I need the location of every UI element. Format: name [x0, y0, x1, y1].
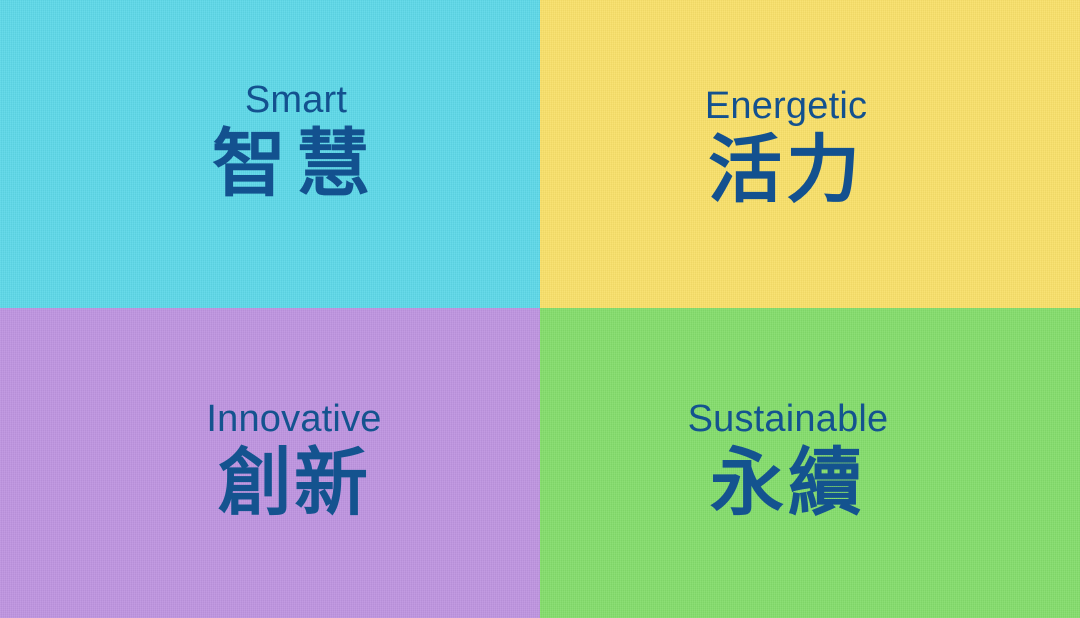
value-label-chinese: 智慧: [212, 127, 380, 202]
value-card-innovative: Innovative 創新: [0, 308, 540, 618]
value-grid: Smart 智慧 Energetic 活力 Innovative 創新 Sust…: [0, 0, 1080, 618]
value-label-english: Energetic: [705, 87, 867, 127]
value-card-sustainable: Sustainable 永續: [540, 308, 1080, 618]
brand-values-slide: Smart 智慧 Energetic 活力 Innovative 創新 Sust…: [0, 0, 1080, 618]
value-label-english: Smart: [245, 81, 347, 121]
value-text-block: Innovative 創新: [206, 400, 381, 521]
value-text-block: Smart 智慧: [212, 81, 380, 202]
value-label-chinese: 活力: [708, 133, 864, 208]
value-text-block: Energetic 活力: [705, 87, 867, 208]
value-text-block: Sustainable 永續: [688, 400, 889, 521]
value-label-chinese: 創新: [218, 446, 370, 521]
value-card-energetic: Energetic 活力: [540, 0, 1080, 308]
value-label-english: Innovative: [206, 400, 381, 440]
value-label-chinese: 永續: [710, 446, 866, 521]
value-label-english: Sustainable: [688, 400, 889, 440]
value-card-smart: Smart 智慧: [0, 0, 540, 308]
